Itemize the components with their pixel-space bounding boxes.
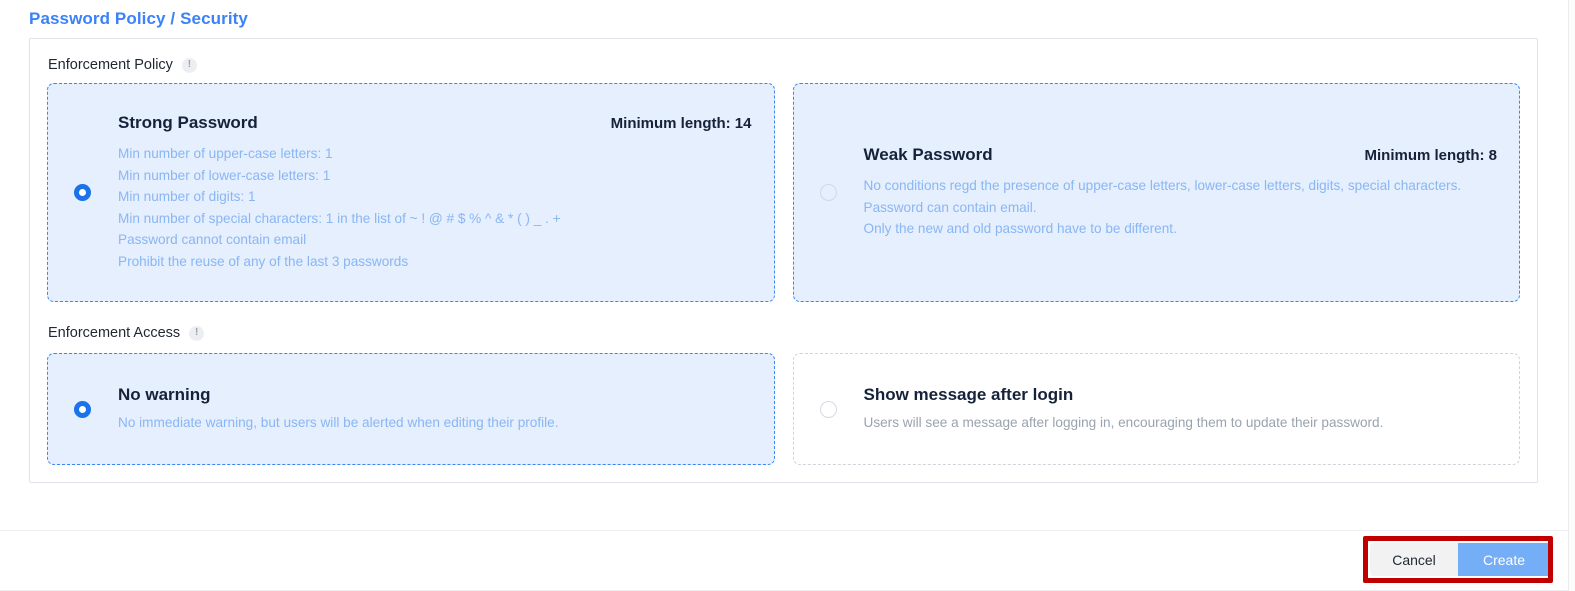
option-card-strong-password[interactable]: Strong Password Minimum length: 14 Min n… (47, 83, 775, 302)
card-titlebar: Show message after login (864, 385, 1498, 405)
radio-weak-password[interactable] (820, 184, 837, 201)
enforcement-access-options: No warning No immediate warning, but use… (47, 353, 1520, 465)
card-rule: Password cannot contain email (118, 229, 752, 251)
section-label-enforcement-access: Enforcement Access (48, 325, 180, 341)
page-right-edge (1568, 0, 1575, 591)
section-heading-enforcement-access: Enforcement Access ! (48, 325, 204, 341)
card-rule: Min number of special characters: 1 in t… (118, 208, 752, 230)
card-title: Show message after login (864, 385, 1074, 405)
card-rule: Min number of digits: 1 (118, 186, 752, 208)
option-card-weak-password[interactable]: Weak Password Minimum length: 8 No condi… (793, 83, 1521, 302)
footer-actions: Cancel Create (1370, 543, 1550, 576)
card-title: Weak Password (864, 145, 993, 165)
card-titlebar: Strong Password Minimum length: 14 (118, 113, 752, 133)
card-body: Weak Password Minimum length: 8 No condi… (864, 145, 1498, 240)
section-label-enforcement-policy: Enforcement Policy (48, 57, 173, 73)
card-rule: No immediate warning, but users will be … (118, 412, 752, 434)
card-description: Users will see a message after logging i… (864, 412, 1498, 434)
info-icon[interactable]: ! (189, 326, 204, 341)
footer-divider (0, 530, 1568, 531)
option-card-show-message-after-login[interactable]: Show message after login Users will see … (793, 353, 1521, 465)
card-rule: Min number of lower-case letters: 1 (118, 165, 752, 187)
radio-show-message-after-login[interactable] (820, 401, 837, 418)
card-titlebar: Weak Password Minimum length: 8 (864, 145, 1498, 165)
create-button[interactable]: Create (1458, 543, 1550, 576)
card-rule-list: No conditions regd the presence of upper… (864, 175, 1498, 240)
section-heading-enforcement-policy: Enforcement Policy ! (48, 57, 197, 73)
page-title: Password Policy / Security (29, 9, 248, 29)
card-rule: Prohibit the reuse of any of the last 3 … (118, 251, 752, 273)
card-rule: No conditions regd the presence of upper… (864, 175, 1498, 197)
option-card-no-warning[interactable]: No warning No immediate warning, but use… (47, 353, 775, 465)
card-rule: Password can contain email. (864, 197, 1498, 219)
card-rule: Only the new and old password have to be… (864, 218, 1498, 240)
password-policy-page: Password Policy / Security Enforcement P… (0, 0, 1575, 591)
card-body: Show message after login Users will see … (864, 385, 1498, 434)
card-titlebar: No warning (118, 385, 752, 405)
card-minimum-length: Minimum length: 8 (1365, 147, 1498, 164)
card-title: No warning (118, 385, 211, 405)
card-title: Strong Password (118, 113, 258, 133)
card-rule: Min number of upper-case letters: 1 (118, 143, 752, 165)
card-body: No warning No immediate warning, but use… (118, 385, 752, 434)
radio-no-warning[interactable] (74, 401, 91, 418)
card-description: No immediate warning, but users will be … (118, 412, 752, 434)
radio-strong-password[interactable] (74, 184, 91, 201)
card-body: Strong Password Minimum length: 14 Min n… (118, 113, 752, 272)
card-minimum-length: Minimum length: 14 (611, 115, 752, 132)
policy-settings-panel: Enforcement Policy ! Strong Password Min… (29, 38, 1538, 483)
enforcement-policy-options: Strong Password Minimum length: 14 Min n… (47, 83, 1520, 302)
card-rule-list: Min number of upper-case letters: 1 Min … (118, 143, 752, 272)
info-icon[interactable]: ! (182, 58, 197, 73)
card-rule: Users will see a message after logging i… (864, 412, 1498, 434)
cancel-button[interactable]: Cancel (1370, 543, 1458, 576)
